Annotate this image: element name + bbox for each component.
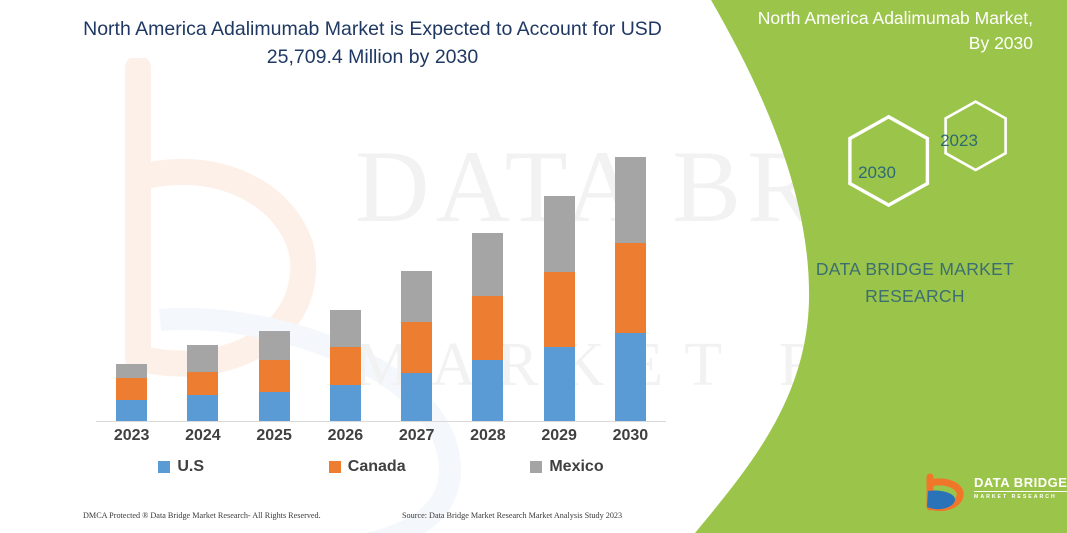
legend-item-canada[interactable]: Canada: [329, 458, 406, 476]
bar-segment-us[interactable]: [401, 373, 432, 421]
bar-segment-mexico[interactable]: [615, 157, 646, 243]
footer-copyright: DMCA Protected ® Data Bridge Market Rese…: [83, 511, 321, 520]
hexagon-2023-label: 2023: [940, 131, 978, 150]
bar-segment-us[interactable]: [544, 347, 575, 421]
bar-segment-us[interactable]: [615, 333, 646, 421]
x-axis-labels: 20232024202520262027202820292030: [96, 427, 666, 445]
bar-group: [524, 60, 595, 421]
bar-segment-mexico[interactable]: [187, 345, 218, 372]
bar-stack[interactable]: [330, 310, 361, 421]
x-axis-label-2027: 2027: [381, 427, 452, 445]
footer-source: Source: Data Bridge Market Research Mark…: [402, 511, 622, 520]
dbmr-logo-sub: MARKET RESEARCH: [974, 494, 1067, 500]
year-hexagons: 2030 2023: [822, 92, 1012, 207]
panel-brand-line1: DATA BRIDGE MARKET: [790, 256, 1040, 283]
bar-group: [452, 60, 523, 421]
legend-label: Canada: [348, 458, 406, 476]
panel-brand-line2: RESEARCH: [790, 283, 1040, 310]
bar-segment-canada[interactable]: [615, 243, 646, 333]
hexagon-2030: [850, 117, 928, 205]
bar-stack[interactable]: [615, 157, 646, 421]
bar-segment-canada[interactable]: [544, 272, 575, 347]
bar-segment-mexico[interactable]: [259, 331, 290, 360]
bar-segment-mexico[interactable]: [116, 364, 147, 378]
bar-stack[interactable]: [187, 345, 218, 421]
bar-stack[interactable]: [401, 271, 432, 421]
bar-stack[interactable]: [472, 233, 503, 421]
legend-swatch-icon: [329, 461, 341, 473]
x-axis-label-2029: 2029: [524, 427, 595, 445]
bar-segment-us[interactable]: [330, 385, 361, 421]
x-axis-label-2025: 2025: [239, 427, 310, 445]
x-axis-label-2023: 2023: [96, 427, 167, 445]
infographic-canvas: DATA BRIDGE MARKET RESEARCH North Americ…: [0, 0, 1067, 533]
legend-label: U.S: [177, 458, 204, 476]
dbmr-logo-name: DATA BRIDGE: [974, 475, 1067, 492]
bar-chart-plot-area: [96, 60, 666, 421]
bar-group: [239, 60, 310, 421]
bar-segment-us[interactable]: [259, 392, 290, 421]
bar-segment-mexico[interactable]: [401, 271, 432, 322]
bar-segment-canada[interactable]: [116, 378, 147, 400]
legend-swatch-icon: [530, 461, 542, 473]
bar-segment-canada[interactable]: [187, 372, 218, 395]
bar-segment-mexico[interactable]: [472, 233, 503, 296]
x-axis-label-2024: 2024: [167, 427, 238, 445]
bar-segment-canada[interactable]: [401, 322, 432, 373]
legend-label: Mexico: [549, 458, 603, 476]
bar-stack[interactable]: [544, 196, 575, 421]
panel-title: North America Adalimumab Market, By 2030: [743, 6, 1033, 56]
dbmr-logo: DATA BRIDGE MARKET RESEARCH: [922, 473, 968, 518]
bar-group: [595, 60, 666, 421]
x-axis-label-2030: 2030: [595, 427, 666, 445]
dbmr-logo-mark-icon: [922, 473, 968, 513]
bar-segment-canada[interactable]: [259, 360, 290, 392]
chart-legend: U.SCanadaMexico: [96, 458, 666, 476]
bar-group: [381, 60, 452, 421]
bar-group: [167, 60, 238, 421]
bar-segment-mexico[interactable]: [330, 310, 361, 347]
bar-stack[interactable]: [259, 331, 290, 421]
bar-segment-us[interactable]: [187, 395, 218, 421]
footer-bar: DMCA Protected ® Data Bridge Market Rese…: [0, 507, 710, 533]
bar-segment-canada[interactable]: [472, 296, 503, 360]
legend-swatch-icon: [158, 461, 170, 473]
legend-item-us[interactable]: U.S: [158, 458, 204, 476]
x-axis-line: [96, 421, 666, 422]
bar-segment-canada[interactable]: [330, 347, 361, 385]
bar-segment-us[interactable]: [472, 360, 503, 421]
legend-item-mexico[interactable]: Mexico: [530, 458, 603, 476]
x-axis-label-2026: 2026: [310, 427, 381, 445]
bar-segment-mexico[interactable]: [544, 196, 575, 272]
hexagon-2030-label: 2030: [858, 163, 896, 182]
bar-stack[interactable]: [116, 364, 147, 421]
panel-brand-text: DATA BRIDGE MARKET RESEARCH: [790, 256, 1040, 310]
bar-group: [96, 60, 167, 421]
bar-group: [310, 60, 381, 421]
bar-segment-us[interactable]: [116, 400, 147, 421]
x-axis-label-2028: 2028: [452, 427, 523, 445]
